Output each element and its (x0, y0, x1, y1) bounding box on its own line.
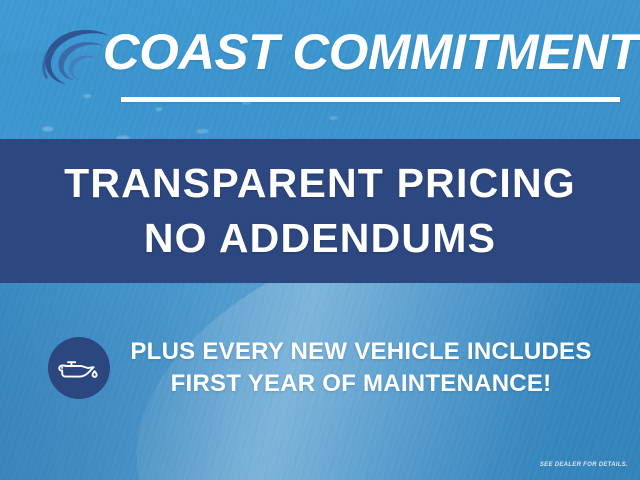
promo-line-2: FIRST YEAR OF MAINTENANCE! (171, 368, 552, 400)
maintenance-promo: PLUS EVERY NEW VEHICLE INCLUDES FIRST YE… (0, 330, 640, 406)
header-divider (121, 97, 620, 102)
oil-can-icon (48, 337, 110, 399)
banner-title-row: COAST COMMITMENT (120, 21, 622, 83)
disclaimer-text: SEE DEALER FOR DETAILS. (540, 462, 628, 468)
coast-commitment-banner: COAST COMMITMENT TRANSPARENT PRICING NO … (0, 0, 640, 480)
page-title: COAST COMMITMENT (103, 27, 639, 77)
no-addendums-line: NO ADDENDUMS (144, 211, 496, 266)
maintenance-promo-text: PLUS EVERY NEW VEHICLE INCLUDES FIRST YE… (130, 336, 591, 400)
promo-line-1: PLUS EVERY NEW VEHICLE INCLUDES (130, 336, 591, 368)
transparent-pricing-line: TRANSPARENT PRICING (64, 156, 576, 211)
banner-header: COAST COMMITMENT (0, 0, 640, 137)
pricing-promise-band: TRANSPARENT PRICING NO ADDENDUMS (0, 139, 640, 283)
